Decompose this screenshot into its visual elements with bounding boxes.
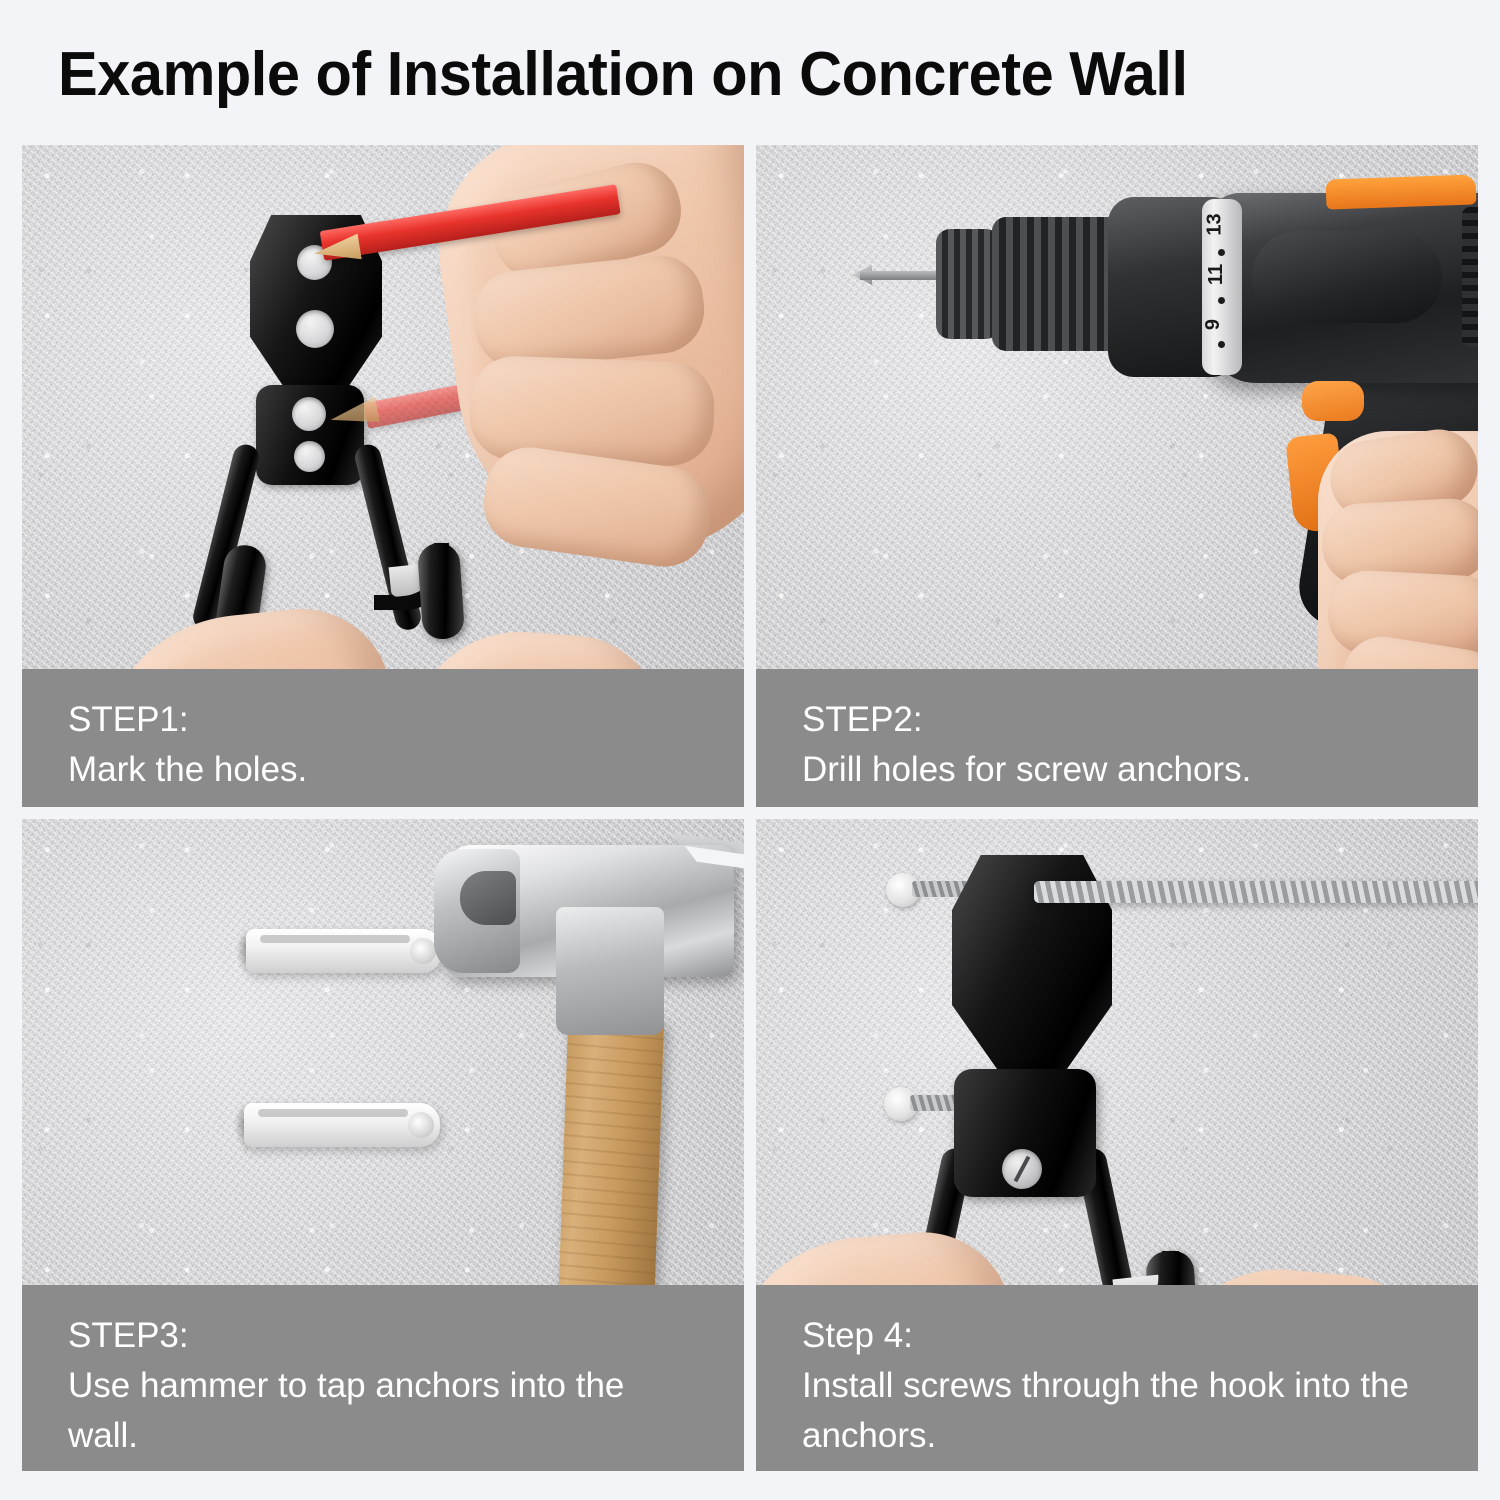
torque-dot-3 [1218,341,1225,348]
step-3-caption: STEP3: Use hammer to tap anchors into th… [22,1285,744,1471]
page-title: Example of Installation on Concrete Wall [58,36,1402,114]
step-3-label: STEP3: [68,1311,698,1361]
drill-trigger [1302,381,1364,421]
hammer-neck [556,907,664,1035]
step-4-caption: Step 4: Install screws through the hook … [756,1285,1478,1471]
installation-guide-page: Example of Installation on Concrete Wall [0,0,1500,1500]
drill-top-accent [1326,174,1477,209]
step-2-text: Drill holes for screw anchors. [802,745,1432,795]
torque-number-9: 9 [1202,319,1225,330]
mounting-hole-fourth [294,441,325,472]
mounting-hole-third [292,397,326,431]
finger-3 [468,355,715,467]
drill-vents [1462,207,1478,347]
step-2-label: STEP2: [802,695,1432,745]
torque-number-13: 13 [1204,213,1227,235]
drill-chuck [992,217,1122,351]
wall-anchor-upper [246,929,442,973]
step-panel-1: STEP1: Mark the holes. [22,145,744,807]
drill-body-panel [1252,231,1442,323]
step-3-text: Use hammer to tap anchors into the wall. [68,1361,698,1461]
screwdriver-shaft [1034,881,1478,903]
mounting-hole-lower [296,310,334,348]
step-4-text: Install screws through the hook into the… [802,1361,1432,1461]
step-panel-4: Step 4: Install screws through the hook … [756,819,1478,1471]
step-panel-2: 13 11 9 STEP2: Drill holes for screw anc… [756,145,1478,807]
torque-number-11: 11 [1205,264,1228,285]
hammer-face-shadow [460,871,516,925]
step-2-caption: STEP2: Drill holes for screw anchors. [756,669,1478,807]
hook-tip-right [417,542,466,641]
steps-grid: STEP1: Mark the holes. 13 11 9 [22,145,1478,1471]
step-1-caption: STEP1: Mark the holes. [22,669,744,807]
torque-dot-1 [1218,249,1225,256]
drill-chuck-front [936,229,1000,339]
torque-dot-2 [1218,297,1225,304]
screw-head [1002,1149,1042,1189]
step-1-label: STEP1: [68,695,698,745]
step-panel-3: STEP3: Use hammer to tap anchors into th… [22,819,744,1471]
step-4-label: Step 4: [802,1311,1432,1361]
step-1-text: Mark the holes. [68,745,698,795]
wall-anchor-lower [244,1103,440,1147]
